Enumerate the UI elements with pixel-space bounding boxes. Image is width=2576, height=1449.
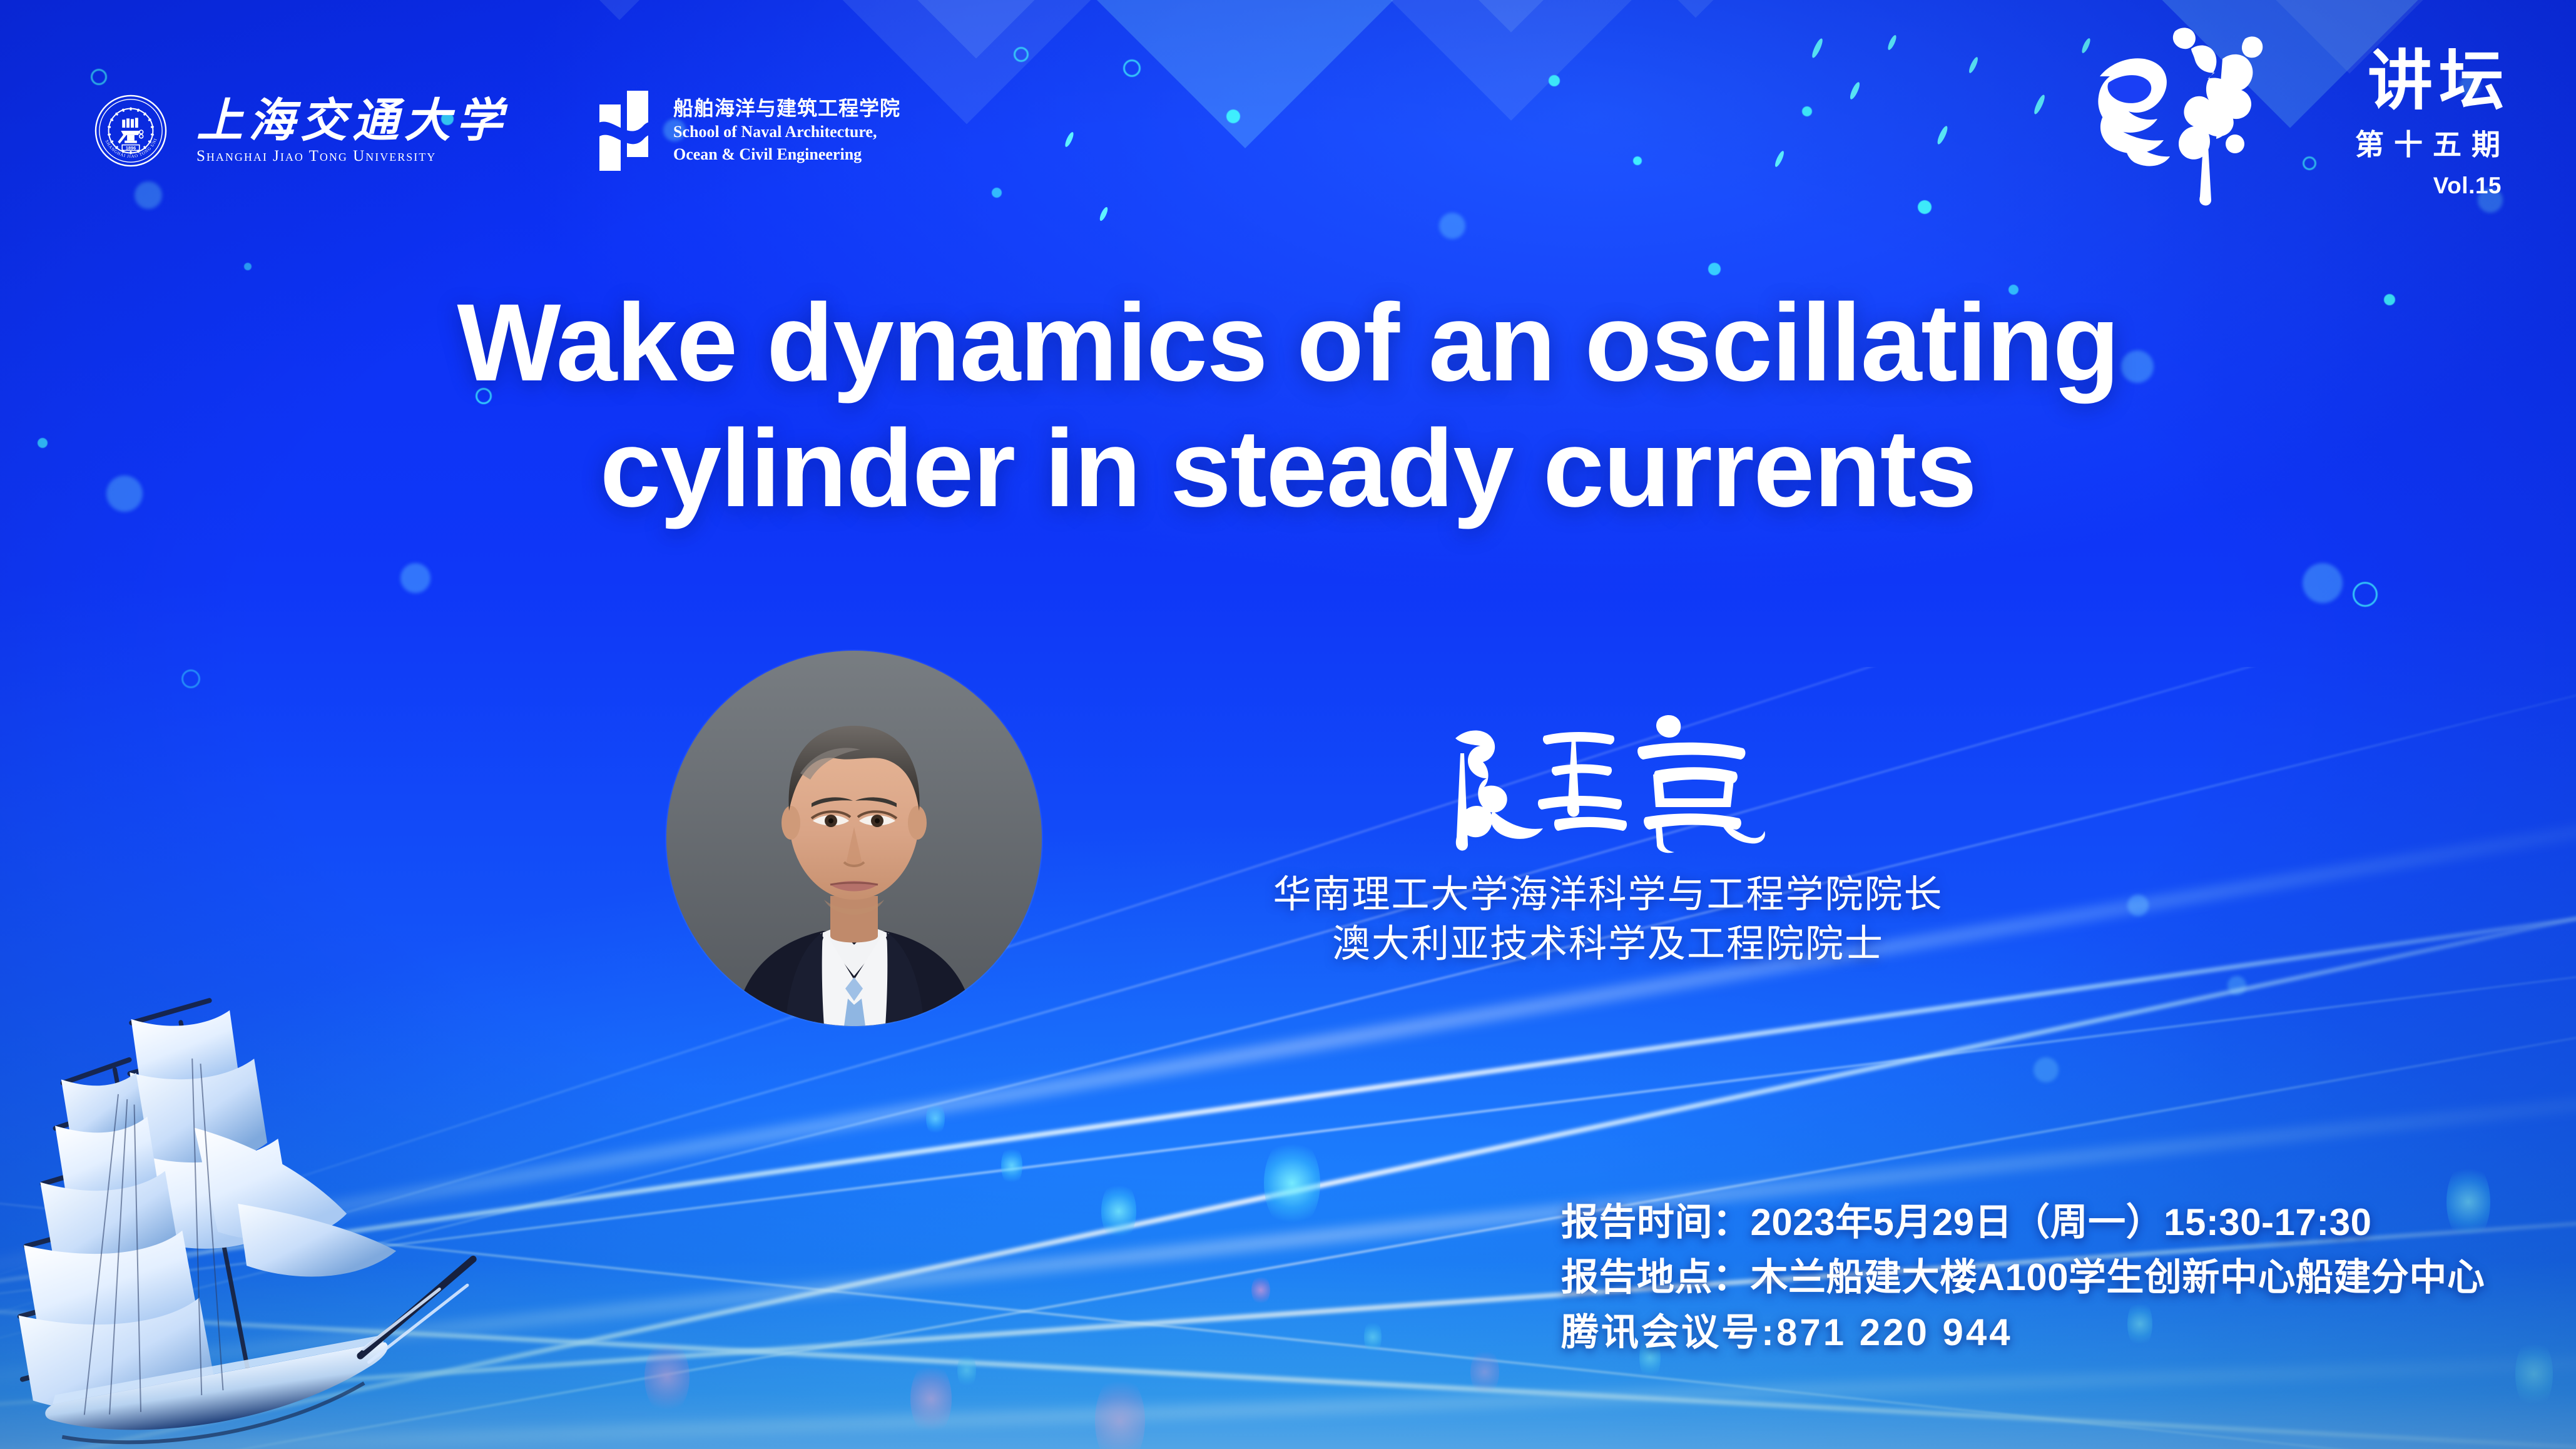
speaker-affiliation-line2: 澳大利亚技术科学及工程院院士 <box>1120 919 2096 969</box>
forum-labels: 讲坛 第十五期 Vol.15 <box>2355 25 2510 197</box>
speaker-block: 华南理工大学海洋科学与工程学院院长 澳大利亚技术科学及工程院院士 <box>1120 701 2096 969</box>
speaker-portrait <box>666 651 1042 1026</box>
forum-title: 讲坛 <box>2368 49 2510 114</box>
sjtu-name-en: Shanghai Jiao Tong University <box>196 148 508 164</box>
speaker-affiliation: 华南理工大学海洋科学与工程学院院长 澳大利亚技术科学及工程院院士 <box>1120 870 2096 969</box>
forum-issue: 第十五期 <box>2355 130 2510 159</box>
lecture-title-line2: cylinder in steady currents <box>150 406 2426 532</box>
lecture-title-line1: Wake dynamics of an oscillating <box>150 280 2426 406</box>
seal-year: 1896 <box>126 145 136 151</box>
sailing-ship-illustration <box>0 979 488 1449</box>
speaker-name <box>1120 701 2096 857</box>
naoce-name-en-line1: School of Naval Architecture, <box>673 123 900 141</box>
sjtu-name-cn: 上海交通大学 <box>196 98 508 145</box>
forum-calligraphy <box>2075 21 2344 209</box>
event-meeting-id: 腾讯会议号:871 220 944 <box>1561 1308 2485 1357</box>
event-details: 报告时间：2023年5月29日（周一）15:30-17:30 报告地点：木兰船建… <box>1561 1198 2485 1357</box>
naoce-wave-mark-icon <box>599 91 657 171</box>
poster-canvas: 1896 SHANGHAI JIAO TONG UNIVERSITY 上海交通大… <box>0 0 2576 1449</box>
sjtu-seal-icon: 1896 SHANGHAI JIAO TONG UNIVERSITY <box>94 94 168 168</box>
lecture-title: Wake dynamics of an oscillating cylinder… <box>0 280 2576 531</box>
event-location: 报告地点：木兰船建大楼A100学生创新中心船建分中心 <box>1561 1253 2485 1302</box>
forum-volume: Vol.15 <box>2433 174 2502 197</box>
sjtu-logo: 1896 SHANGHAI JIAO TONG UNIVERSITY 上海交通大… <box>94 94 508 168</box>
header-logos: 1896 SHANGHAI JIAO TONG UNIVERSITY 上海交通大… <box>94 91 900 171</box>
naoce-name-en-line2: Ocean & Civil Engineering <box>673 145 900 163</box>
naoce-name-cn: 船舶海洋与建筑工程学院 <box>673 98 900 118</box>
speaker-affiliation-line1: 华南理工大学海洋科学与工程学院院长 <box>1120 870 2096 919</box>
naoce-logo: 船舶海洋与建筑工程学院 School of Naval Architecture… <box>599 91 900 171</box>
event-time: 报告时间：2023年5月29日（周一）15:30-17:30 <box>1561 1198 2485 1247</box>
forum-brand: 讲坛 第十五期 Vol.15 <box>2075 25 2510 209</box>
